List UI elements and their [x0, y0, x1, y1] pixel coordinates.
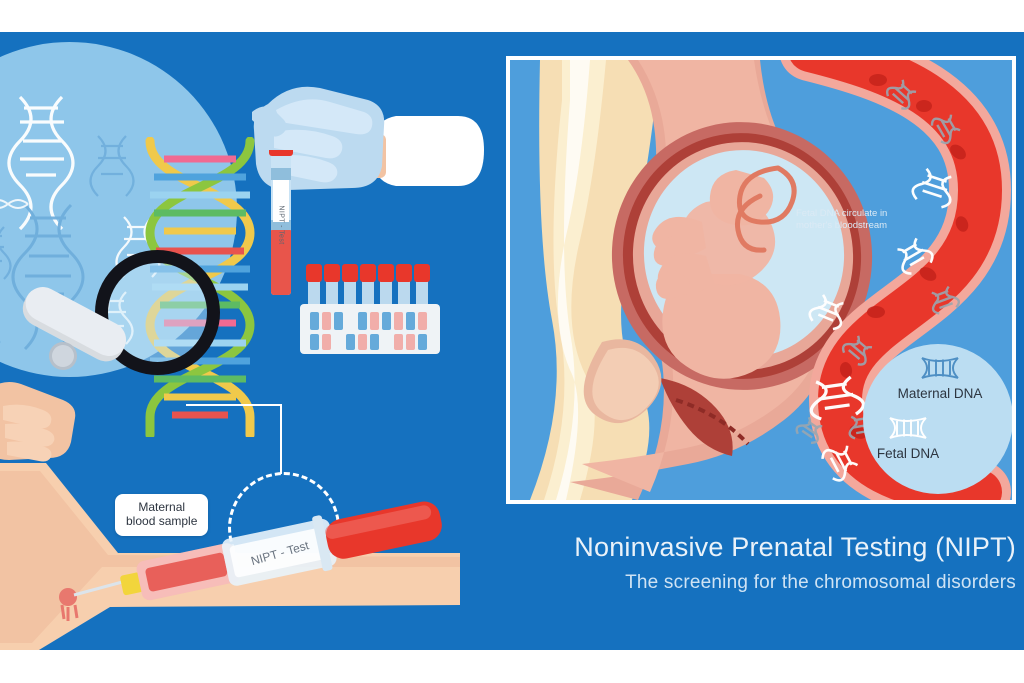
- legend-item-maternal-dna: Maternal DNA: [880, 356, 1000, 401]
- legend-label-fetal-dna: Fetal DNA: [848, 446, 968, 461]
- magnifying-glass: [95, 250, 220, 375]
- fetal-dna-bloodstream-label: Fetal DNA circulate in mother's bloodstr…: [796, 208, 901, 233]
- nipt-test-tube-vertical: NIPT - Test: [268, 150, 294, 295]
- legend-item-fetal-dna: Fetal DNA: [848, 416, 968, 461]
- dna-helix-icon: [885, 416, 931, 440]
- test-tube-rack: [300, 260, 440, 360]
- page-subtitle: The screening for the chromosomal disord…: [520, 572, 1016, 594]
- infographic-root: NIPT - Test: [0, 0, 1024, 683]
- callout-line-2: blood sample: [126, 515, 197, 529]
- hand-holding-magnifier: [0, 350, 125, 470]
- illustration-panel: Fetal DNA circulate in mother's bloodstr…: [506, 56, 1016, 504]
- dna-helix-icon: [917, 356, 963, 380]
- legend-label-maternal-dna: Maternal DNA: [880, 386, 1000, 401]
- maternal-blood-sample-callout: Maternal blood sample: [115, 494, 208, 536]
- fetal-dna-label-line-2: mother's bloodstream: [796, 220, 901, 232]
- fetal-dna-label-line-1: Fetal DNA circulate in: [796, 208, 901, 220]
- infographic-canvas: NIPT - Test: [0, 32, 1024, 650]
- page-title: Noninvasive Prenatal Testing (NIPT): [560, 532, 1016, 563]
- tube-label: NIPT - Test: [278, 206, 285, 245]
- connector-line-horizontal: [186, 404, 282, 406]
- callout-line-1: Maternal: [126, 501, 197, 515]
- arm-with-syringe: NIPT - Test: [0, 457, 460, 650]
